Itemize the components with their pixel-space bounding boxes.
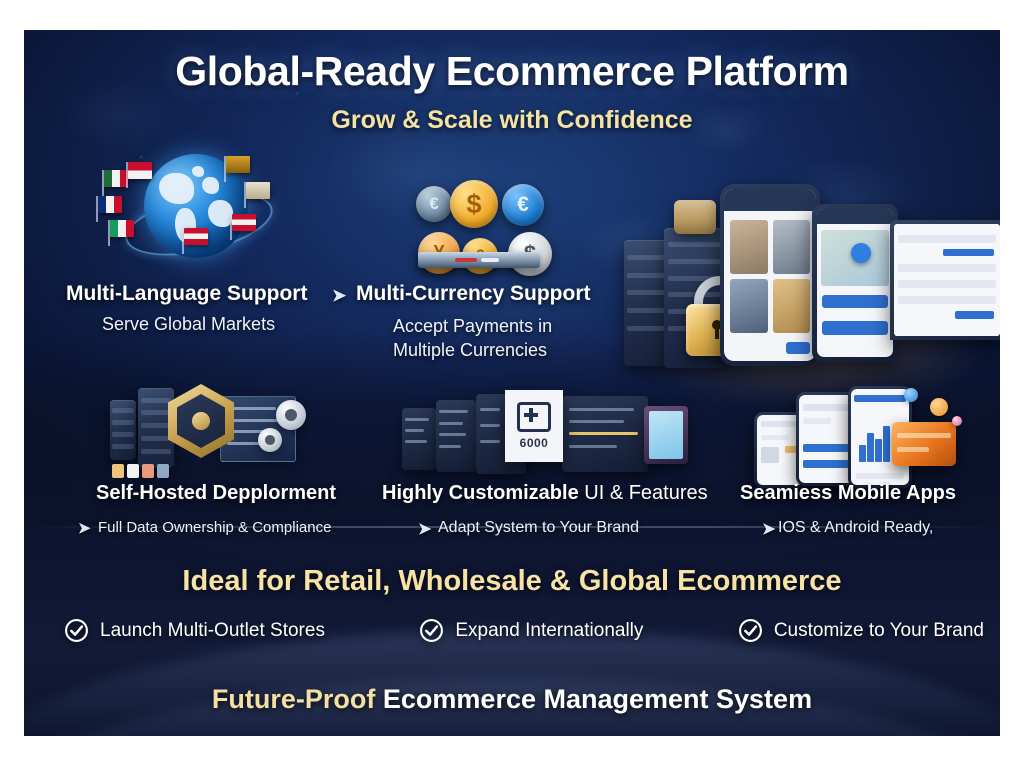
screen-cta-button xyxy=(786,342,810,354)
benefit-item: Expand Internationally xyxy=(419,618,643,643)
smartphone-screen xyxy=(724,189,816,361)
feature-heading-customizable-light: UI & Features xyxy=(579,482,708,504)
chart-bar xyxy=(867,433,874,462)
product-thumbnail xyxy=(730,279,768,333)
add-shield-icon xyxy=(517,402,551,432)
feature-heading-customizable-bold: Highly Customizable xyxy=(382,482,579,504)
laptop-device xyxy=(644,406,688,464)
check-circle-icon xyxy=(738,618,763,643)
globe-with-flags-illustration xyxy=(96,148,306,268)
monitor-device xyxy=(562,396,648,472)
feature-heading-self-hosted: Self-Hosted Depplorment xyxy=(96,482,336,505)
closing-tagline: Future-Proof Ecommerce Management System xyxy=(24,684,1000,715)
flag-icon xyxy=(104,170,128,187)
tablet-screen xyxy=(817,209,893,357)
feature-heading-multi-language: Multi-Language Support xyxy=(66,282,307,306)
dollar-coin-icon: $ xyxy=(450,180,498,228)
coin-tray-icon xyxy=(418,252,540,268)
flag-icon xyxy=(128,162,152,179)
tablet-device xyxy=(812,204,898,362)
page-title: Global-Ready Ecommerce Platform xyxy=(24,48,1000,95)
benefit-item: Launch Multi-Outlet Stores xyxy=(64,618,325,643)
smartphone-device xyxy=(720,184,820,366)
feature-sub-customizable: Adapt System to Your Brand xyxy=(438,519,639,537)
chart-bar xyxy=(859,445,866,462)
decorative-bubble xyxy=(904,388,918,402)
flag-icon xyxy=(226,156,250,173)
card-number-label: 6000 xyxy=(520,436,549,450)
color-swatch xyxy=(127,464,139,478)
laptop-device xyxy=(890,220,1000,340)
currency-coins-illustration: € $ € ¥ £ $ xyxy=(412,180,562,290)
feature-sub-multi-language: Serve Global Markets xyxy=(102,314,275,335)
decorative-bubble xyxy=(930,398,948,416)
benefit-label: Customize to Your Brand xyxy=(774,620,984,642)
customizable-screens-illustration: 6000 xyxy=(402,388,697,480)
flag-icon xyxy=(98,196,122,213)
smartphone-screen xyxy=(799,395,853,483)
map-pin-icon xyxy=(851,243,871,263)
flag-icon xyxy=(246,182,270,199)
feature-sub-multi-currency-line1: Accept Payments in xyxy=(393,316,552,337)
devices-cluster-illustration xyxy=(624,176,1000,376)
gold-banner-headline: Ideal for Retail, Wholesale & Global Eco… xyxy=(24,565,1000,598)
screen-device xyxy=(402,408,436,470)
benefit-label: Launch Multi-Outlet Stores xyxy=(100,620,325,642)
tagline-gold-part: Future-Proof xyxy=(212,684,375,714)
screen-cta-button xyxy=(822,295,889,308)
tagline-white-part: Ecommerce Management System xyxy=(375,684,812,714)
page-subtitle: Grow & Scale with Confidence xyxy=(24,106,1000,135)
arrow-bullet-icon: ➤ xyxy=(78,519,91,537)
feature-sub-self-hosted: Full Data Ownership & Compliance xyxy=(98,519,331,536)
server-rack-icon xyxy=(624,240,668,366)
mobile-apps-illustration xyxy=(754,386,964,482)
chart-bar xyxy=(883,426,890,462)
color-swatch xyxy=(142,464,154,478)
screen-device xyxy=(436,400,476,472)
benefit-label: Expand Internationally xyxy=(455,620,643,642)
self-hosted-illustration xyxy=(110,382,325,478)
feature-heading-customizable: Highly Customizable UI & Features xyxy=(382,482,708,505)
feature-card: 6000 xyxy=(505,390,563,462)
color-swatch xyxy=(157,464,169,478)
marketing-poster: Global-Ready Ecommerce Platform Grow & S… xyxy=(24,30,1000,736)
color-swatch xyxy=(112,464,124,478)
check-circle-icon xyxy=(419,618,444,643)
feature-sub-multi-currency-line2: Multiple Currencies xyxy=(393,340,547,361)
flag-icon xyxy=(232,214,256,231)
arrow-bullet-icon: ➤ xyxy=(418,519,431,539)
screen-cta-button xyxy=(822,321,889,334)
product-thumbnail xyxy=(773,220,811,274)
laptop-screen-content xyxy=(894,224,1000,336)
smartphone-device xyxy=(796,392,856,486)
gear-icon xyxy=(276,400,306,430)
benefits-row: Launch Multi-Outlet Stores Expand Intern… xyxy=(64,618,984,643)
server-rack-icon xyxy=(110,400,136,460)
product-thumbnail xyxy=(773,279,811,333)
feature-heading-mobile-apps: Seamiess Mobile Apps xyxy=(740,482,956,505)
arrow-separator-icon: ➤ xyxy=(332,286,346,306)
coin-icon: € xyxy=(416,186,452,222)
check-circle-icon xyxy=(64,618,89,643)
flag-icon xyxy=(184,228,208,245)
credit-card-icon xyxy=(892,422,956,466)
storage-drum-icon xyxy=(674,200,716,234)
flag-icon xyxy=(110,220,134,237)
chart-bar xyxy=(875,439,882,462)
euro-coin-icon: € xyxy=(502,184,544,226)
benefit-item: Customize to Your Brand xyxy=(738,618,984,643)
gear-icon xyxy=(258,428,282,452)
map-preview xyxy=(821,230,889,286)
feature-heading-multi-currency: Multi-Currency Support xyxy=(356,282,591,306)
product-thumbnail xyxy=(730,220,768,274)
arrow-bullet-icon: ➤ xyxy=(762,519,775,539)
poster-page: Global-Ready Ecommerce Platform Grow & S… xyxy=(0,0,1024,768)
decorative-bubble xyxy=(952,416,962,426)
feature-sub-mobile-apps: IOS & Android Ready, xyxy=(778,519,933,537)
